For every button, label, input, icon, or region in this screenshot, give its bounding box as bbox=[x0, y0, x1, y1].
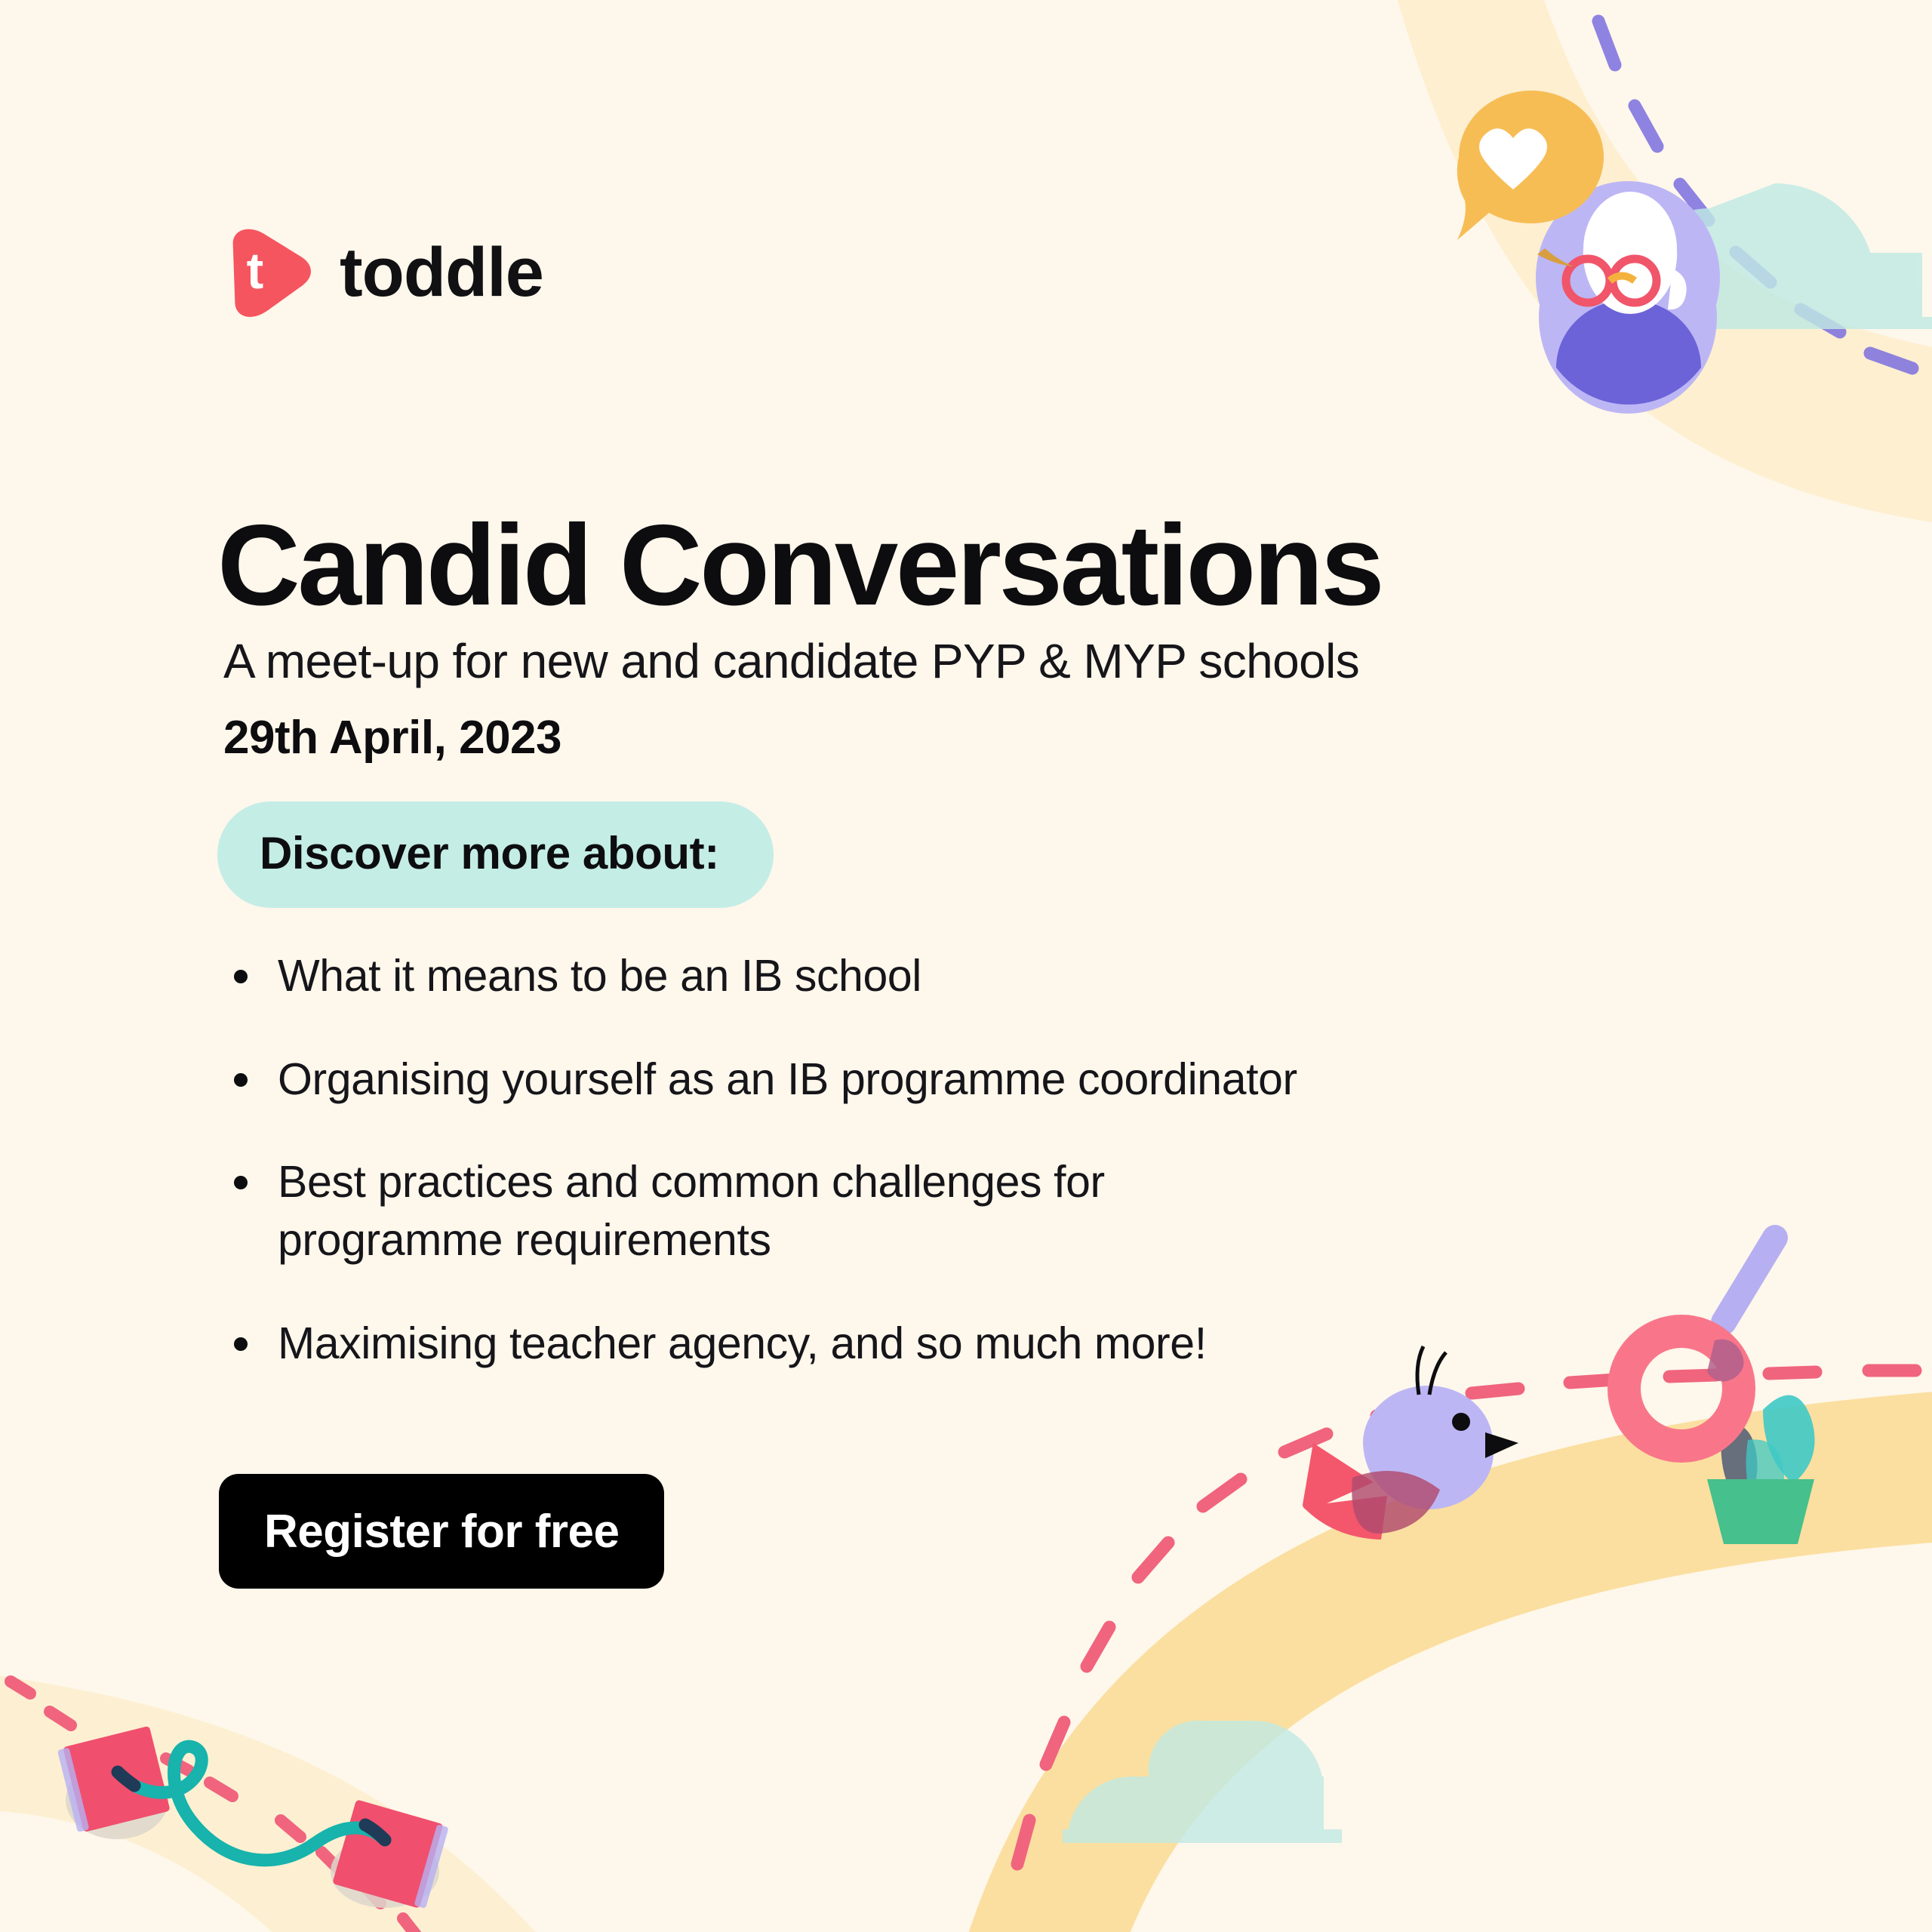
poster-content: t toddle Candid Conversations A meet-up … bbox=[0, 0, 1932, 1932]
discover-more-badge: Discover more about: bbox=[217, 801, 774, 908]
register-for-free-button[interactable]: Register for free bbox=[219, 1474, 664, 1589]
page-title: Candid Conversations bbox=[217, 507, 1382, 624]
list-item: Maximising teacher agency, and so much m… bbox=[223, 1315, 1506, 1373]
toddle-logo-letter: t bbox=[247, 242, 264, 300]
list-item: What it means to be an IB school bbox=[223, 947, 1506, 1005]
toddle-wordmark: toddle bbox=[340, 238, 543, 307]
topics-list: What it means to be an IB school Organis… bbox=[223, 947, 1506, 1417]
list-item: Best practices and common challenges for… bbox=[223, 1153, 1183, 1269]
event-date: 29th April, 2023 bbox=[223, 711, 561, 764]
page-subtitle: A meet-up for new and candidate PYP & MY… bbox=[223, 633, 1359, 689]
brand-logo: t toddle bbox=[220, 226, 543, 318]
list-item: Organising yourself as an IB programme c… bbox=[223, 1051, 1506, 1109]
toddle-logo-icon: t bbox=[220, 226, 312, 318]
